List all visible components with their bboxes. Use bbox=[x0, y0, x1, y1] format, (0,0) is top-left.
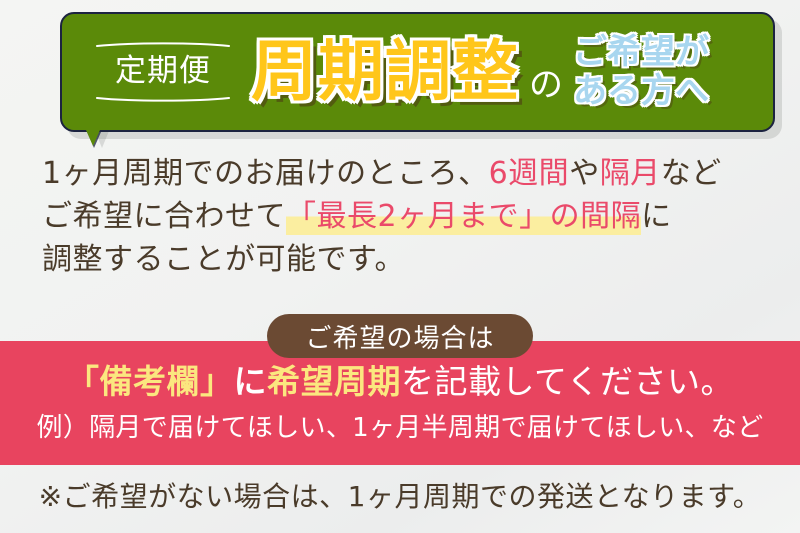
request-case-pill: ご希望の場合は bbox=[267, 314, 533, 358]
body-line-3: 調整することが可能です。 bbox=[42, 238, 772, 281]
body-line2-seg1: ご希望に合わせて bbox=[42, 199, 286, 234]
pink-main-seg4: を記載してください。 bbox=[401, 362, 734, 401]
promo-banner-page: 定期便 周期調整 の ご希望が ある方へ 1ヶ月周期でのお届けのところ、6週間や… bbox=[0, 0, 800, 533]
body-line1-seg1: 1ヶ月周期でのお届けのところ、 bbox=[42, 156, 489, 191]
body-line1-seg3: や bbox=[569, 156, 600, 191]
pink-highlight-remarks-field: 「備考欄」 bbox=[66, 362, 234, 401]
banner-subtitle-line2: ある方へ bbox=[573, 72, 709, 111]
banner-connector-particle: の bbox=[529, 39, 563, 106]
banner-tail bbox=[86, 130, 100, 146]
badge-rule-bottom bbox=[95, 97, 231, 102]
subscription-badge: 定期便 bbox=[89, 42, 237, 102]
body-line-1: 1ヶ月周期でのお届けのところ、6週間や隔月など bbox=[42, 152, 772, 195]
pink-main-text: 「備考欄」に希望周期を記載してください。 bbox=[0, 362, 800, 402]
body-line1-seg5: など bbox=[661, 156, 722, 191]
banner-subtitle-line1: ご希望が bbox=[573, 33, 709, 72]
body-line1-highlight-bimonthly: 隔月 bbox=[600, 156, 661, 191]
body-line1-highlight-6weeks: 6週間 bbox=[489, 156, 570, 191]
body-copy: 1ヶ月周期でのお届けのところ、6週間や隔月など ご希望に合わせて「最長2ヶ月まで… bbox=[42, 152, 772, 281]
body-line2-marker-interval: 「最長2ヶ月まで」の間隔 bbox=[286, 199, 641, 235]
body-line-2: ご希望に合わせて「最長2ヶ月まで」の間隔に bbox=[42, 195, 772, 238]
body-line2-seg3: に bbox=[641, 199, 672, 234]
request-case-pill-label: ご希望の場合は bbox=[305, 318, 494, 355]
pink-example-text: 例）隔月で届けてほしい、1ヶ月半周期で届けてほしい、など bbox=[0, 411, 800, 445]
pink-main-seg2: に bbox=[233, 362, 267, 401]
banner-subtitle-group: ご希望が ある方へ bbox=[573, 33, 709, 111]
subscription-badge-label: 定期便 bbox=[115, 47, 211, 97]
header-banner: 定期便 周期調整 の ご希望が ある方へ bbox=[60, 12, 775, 132]
pink-callout-band: 「備考欄」に希望周期を記載してください。 例）隔月で届けてほしい、1ヶ月半周期で… bbox=[0, 341, 800, 465]
banner-title: 周期調整 bbox=[251, 39, 519, 105]
footer-note: ※ご希望がない場合は、1ヶ月周期での発送となります。 bbox=[0, 478, 800, 516]
pink-highlight-desired-cycle: 希望周期 bbox=[267, 362, 401, 401]
